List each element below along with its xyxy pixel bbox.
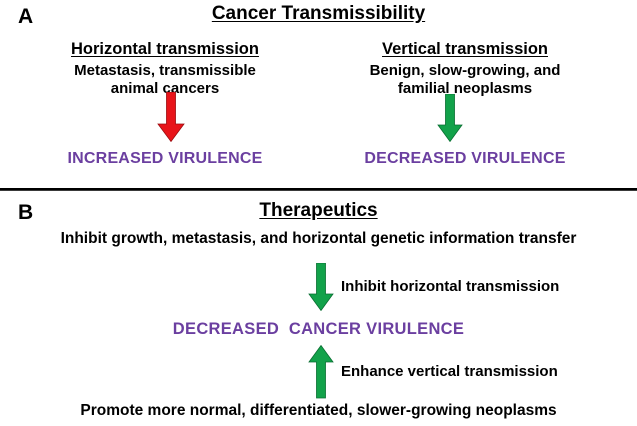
enhance-vertical-transmission-label: Enhance vertical transmission <box>341 363 558 381</box>
vertical-transmission-heading-text: Vertical transmission <box>382 40 548 58</box>
vertical-transmission-body-line2: familial neoplasms <box>320 80 610 98</box>
increased-virulence-label: INCREASED VIRULENCE <box>20 150 310 168</box>
horizontal-transmission-body-line1: Metastasis, transmissible <box>20 62 310 80</box>
promote-normal-neoplasms-statement: Promote more normal, differentiated, slo… <box>0 402 637 421</box>
decreased-virulence-label: DECREASED VIRULENCE <box>320 150 610 168</box>
horizontal-transmission-heading: Horizontal transmission <box>20 40 310 58</box>
panel-a-title: Cancer Transmissibility <box>0 4 637 25</box>
inhibit-horizontal-transmission-label: Inhibit horizontal transmission <box>341 278 559 296</box>
panel-a-right-column: Vertical transmission Benign, slow-growi… <box>320 40 610 99</box>
horizontal-transmission-heading-text: Horizontal transmission <box>71 40 259 58</box>
vertical-transmission-body-line1: Benign, slow-growing, and <box>320 62 610 80</box>
arrow-up-icon-green-b <box>308 345 334 404</box>
panel-b-title: Therapeutics <box>0 201 637 222</box>
inhibit-growth-statement: Inhibit growth, metastasis, and horizont… <box>0 230 637 249</box>
cancer-transmissibility-figure: A Cancer Transmissibility Horizontal tra… <box>0 0 637 426</box>
panel-b-title-text: Therapeutics <box>259 200 377 221</box>
panel-divider <box>0 188 637 191</box>
vertical-transmission-heading: Vertical transmission <box>320 40 610 58</box>
arrow-down-icon-green-b <box>308 263 334 316</box>
panel-a-title-text: Cancer Transmissibility <box>212 3 425 24</box>
arrow-down-icon-green-a <box>437 94 463 147</box>
decreased-cancer-virulence-label: DECREASED CANCER VIRULENCE <box>0 320 637 338</box>
panel-a-left-column: Horizontal transmission Metastasis, tran… <box>20 40 310 99</box>
arrow-down-icon-red <box>157 92 185 147</box>
